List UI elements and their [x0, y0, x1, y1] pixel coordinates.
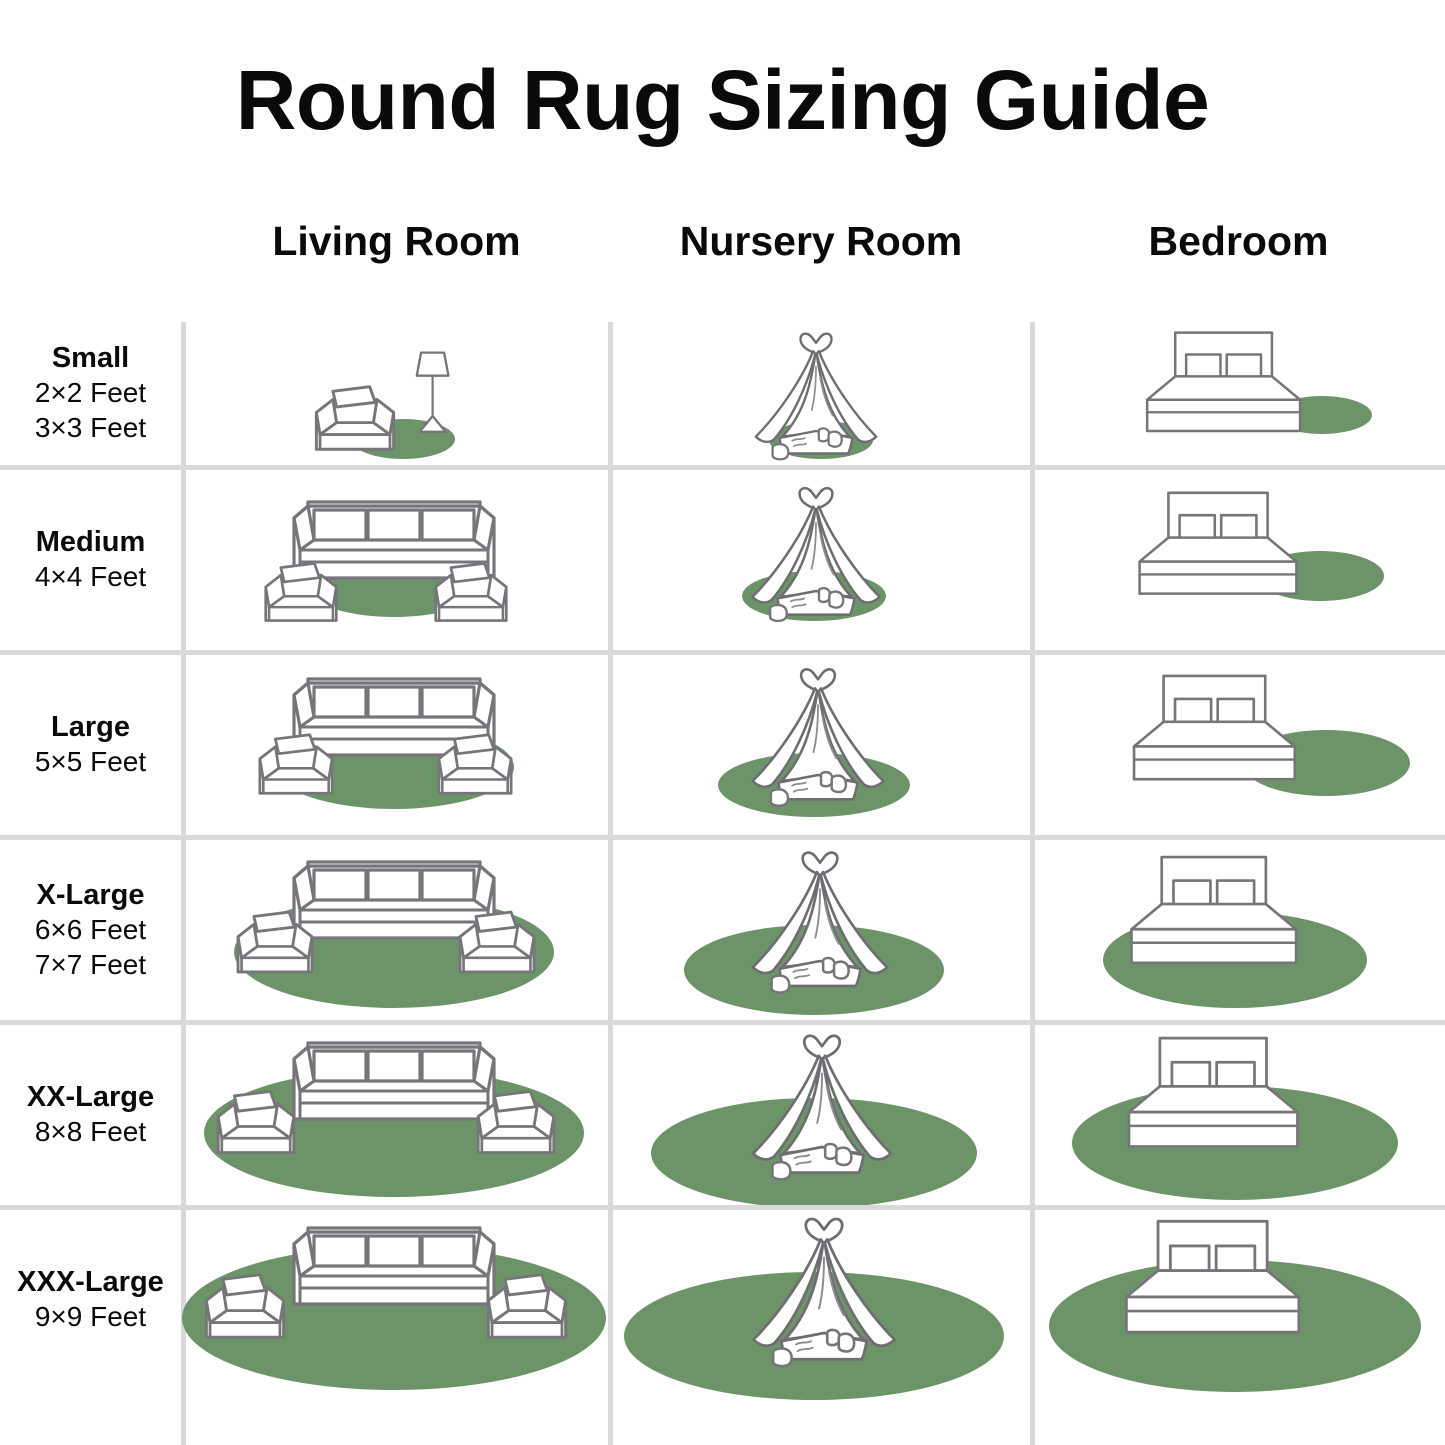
- row-label-large: Large 5×5 Feet: [0, 655, 181, 835]
- row-label-small: Small 2×2 Feet 3×3 Feet: [0, 322, 181, 465]
- row-label-name: XX-Large: [27, 1080, 154, 1115]
- row-label-size-1: 2×2 Feet: [35, 376, 146, 411]
- row-label-size-1: 9×9 Feet: [35, 1300, 146, 1335]
- row-label-size-1: 5×5 Feet: [35, 745, 146, 780]
- row-label-name: Small: [52, 341, 129, 376]
- cell-bedroom-xxx-large: [1030, 1210, 1445, 1405]
- cell-nursery-room-xx-large: [608, 1025, 1030, 1205]
- cell-bedroom-x-large: [1030, 840, 1445, 1020]
- infographic-page: Round Rug Sizing Guide Living Room Nurse…: [0, 0, 1445, 1445]
- row-label-size-1: 6×6 Feet: [35, 913, 146, 948]
- column-header-living-room: Living Room: [183, 218, 610, 265]
- cell-nursery-room-x-large: [608, 840, 1030, 1020]
- row-label-xx-large: XX-Large 8×8 Feet: [0, 1025, 181, 1205]
- row-label-name: Medium: [36, 525, 146, 560]
- cell-bedroom-xx-large: [1030, 1025, 1445, 1205]
- cell-living-room-xxx-large: [181, 1210, 608, 1405]
- row-label-xxx-large: XXX-Large 9×9 Feet: [0, 1210, 181, 1390]
- cell-nursery-room-large: [608, 655, 1030, 835]
- cell-living-room-medium: [181, 470, 608, 650]
- cell-living-room-x-large: [181, 840, 608, 1020]
- row-label-name: X-Large: [37, 878, 145, 913]
- cell-bedroom-medium: [1030, 470, 1445, 650]
- cell-bedroom-small: [1030, 322, 1445, 465]
- cell-nursery-room-medium: [608, 470, 1030, 650]
- row-label-name: Large: [51, 710, 130, 745]
- column-header-nursery-room: Nursery Room: [610, 218, 1032, 265]
- row-label-x-large: X-Large 6×6 Feet 7×7 Feet: [0, 840, 181, 1020]
- row-label-medium: Medium 4×4 Feet: [0, 470, 181, 650]
- cell-bedroom-large: [1030, 655, 1445, 835]
- cell-nursery-room-xxx-large: [608, 1210, 1030, 1405]
- row-label-size-1: 8×8 Feet: [35, 1115, 146, 1150]
- column-header-bedroom: Bedroom: [1032, 218, 1445, 265]
- page-title: Round Rug Sizing Guide: [0, 58, 1445, 142]
- cell-living-room-xx-large: [181, 1025, 608, 1205]
- row-label-size-2: 7×7 Feet: [35, 948, 146, 983]
- cell-living-room-small: [181, 322, 608, 465]
- cell-living-room-large: [181, 655, 608, 835]
- row-label-size-1: 4×4 Feet: [35, 560, 146, 595]
- row-label-name: XXX-Large: [17, 1265, 164, 1300]
- row-label-size-2: 3×3 Feet: [35, 411, 146, 446]
- cell-nursery-room-small: [608, 322, 1030, 465]
